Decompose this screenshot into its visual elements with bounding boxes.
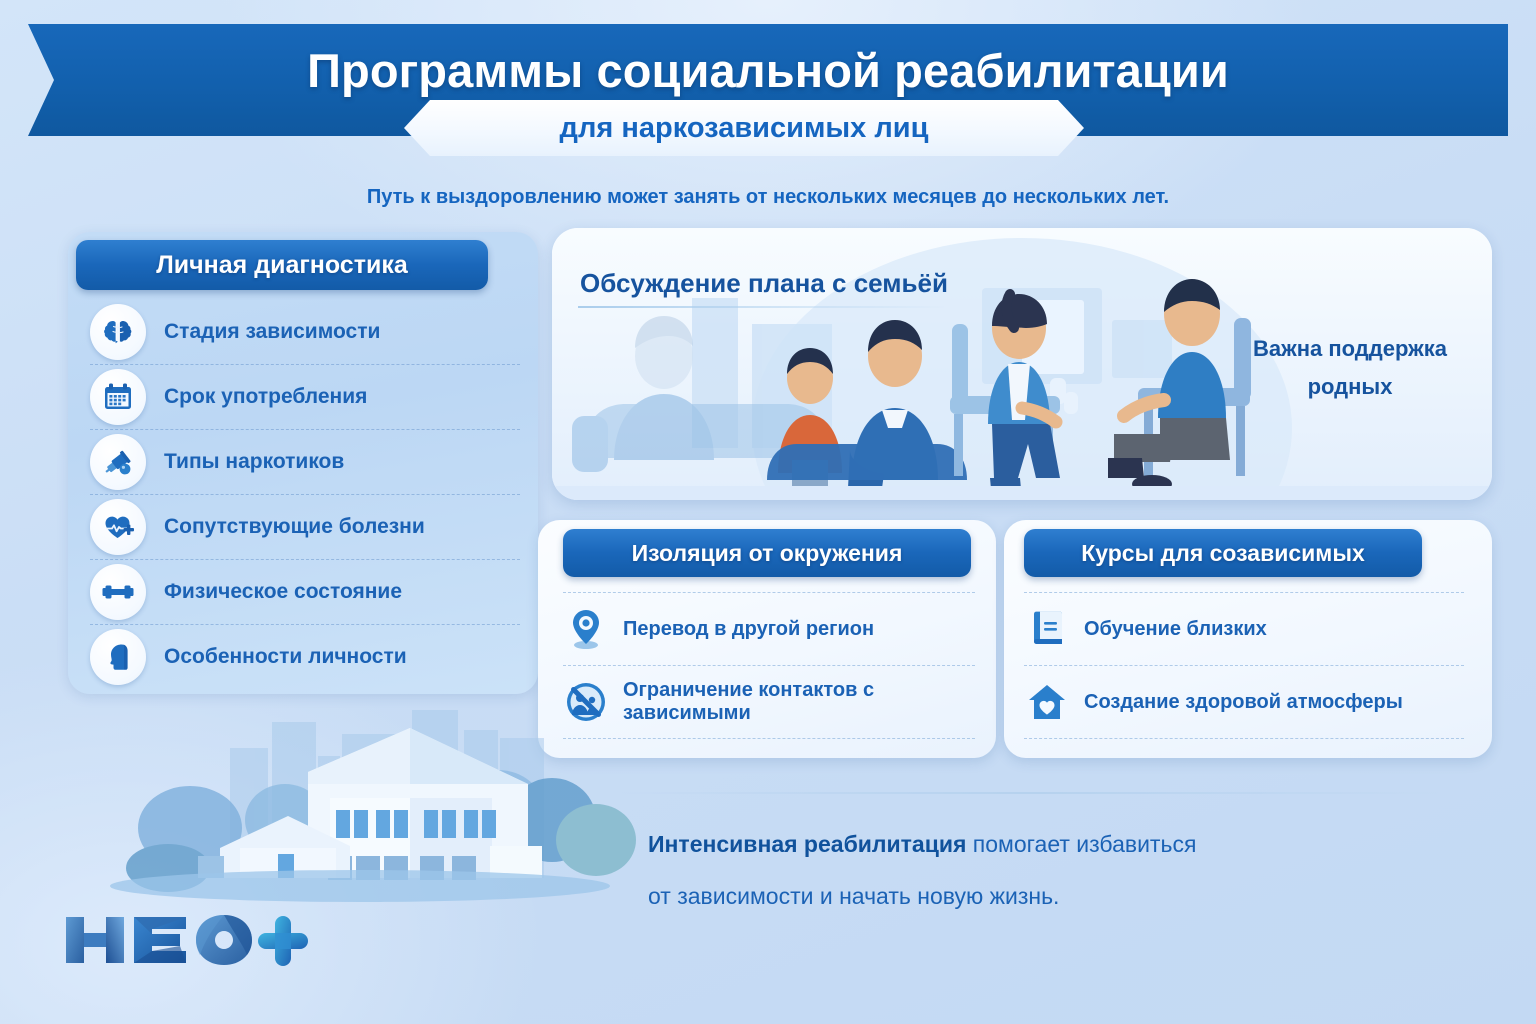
list-item-label: Перевод в другой регион <box>623 618 874 641</box>
head-profile-icon <box>90 629 146 685</box>
list-item[interactable]: Срок употребления <box>90 365 520 430</box>
book-icon <box>1024 606 1070 652</box>
list-item-label: Сопутствующие болезни <box>164 515 425 539</box>
neo-plus-logo <box>62 905 312 975</box>
page-subtitle: для наркозависимых лиц <box>404 100 1084 156</box>
list-item-label: Особенности личности <box>164 645 407 669</box>
list-item[interactable]: Обучение близких <box>1024 592 1464 665</box>
footer-line2: от зависимости и начать новую жизнь. <box>648 883 1059 909</box>
calendar-icon <box>90 369 146 425</box>
list-item[interactable]: Особенности личности <box>90 625 520 689</box>
diagnostics-heading: Личная диагностика <box>76 240 488 290</box>
courses-heading: Курсы для созависимых <box>1024 529 1422 577</box>
hero-title: Обсуждение плана с семьёй <box>580 268 980 299</box>
list-item-label: Обучение близких <box>1084 618 1267 641</box>
footer-divider <box>620 792 1440 794</box>
list-item-label: Ограничение контактов с зависимыми <box>623 679 975 725</box>
list-item-label: Типы наркотиков <box>164 450 344 474</box>
heart-cross-icon <box>90 499 146 555</box>
map-pin-icon <box>563 606 609 652</box>
list-item[interactable]: Стадия зависимости <box>90 300 520 365</box>
lede-text: Путь к выздоровлению может занять от нес… <box>0 186 1536 209</box>
list-item[interactable]: Типы наркотиков <box>90 430 520 495</box>
list-item[interactable]: Создание здоровой атмосферы <box>1024 665 1464 739</box>
courses-list: Обучение близких Создание здоровой атмос… <box>1024 592 1464 739</box>
list-item-label: Создание здоровой атмосферы <box>1084 691 1403 714</box>
list-item[interactable]: Физическое состояние <box>90 560 520 625</box>
hero-note: Важна поддержка родных <box>1225 330 1475 406</box>
list-item[interactable]: Сопутствующие болезни <box>90 495 520 560</box>
list-item-label: Срок употребления <box>164 385 367 409</box>
footer-rest: помогает избавиться <box>966 831 1196 857</box>
diagnostics-list: Стадия зависимости <box>90 300 520 689</box>
brain-icon <box>90 304 146 360</box>
list-item-label: Физическое состояние <box>164 580 402 604</box>
dumbbell-icon <box>90 564 146 620</box>
syringe-icon <box>90 434 146 490</box>
house-heart-icon <box>1024 679 1070 725</box>
isolation-heading: Изоляция от окружения <box>563 529 971 577</box>
footer-strong: Интенсивная реабилитация <box>648 831 966 857</box>
infographic-poster: Программы социальной реабилитации для на… <box>0 0 1536 1024</box>
list-item-label: Стадия зависимости <box>164 320 380 344</box>
footer-message: Интенсивная реабилитация помогает избави… <box>648 818 1408 922</box>
rehab-house-illustration <box>80 700 640 920</box>
list-item[interactable]: Перевод в другой регион <box>563 592 975 665</box>
hero-title-underline <box>578 306 948 308</box>
